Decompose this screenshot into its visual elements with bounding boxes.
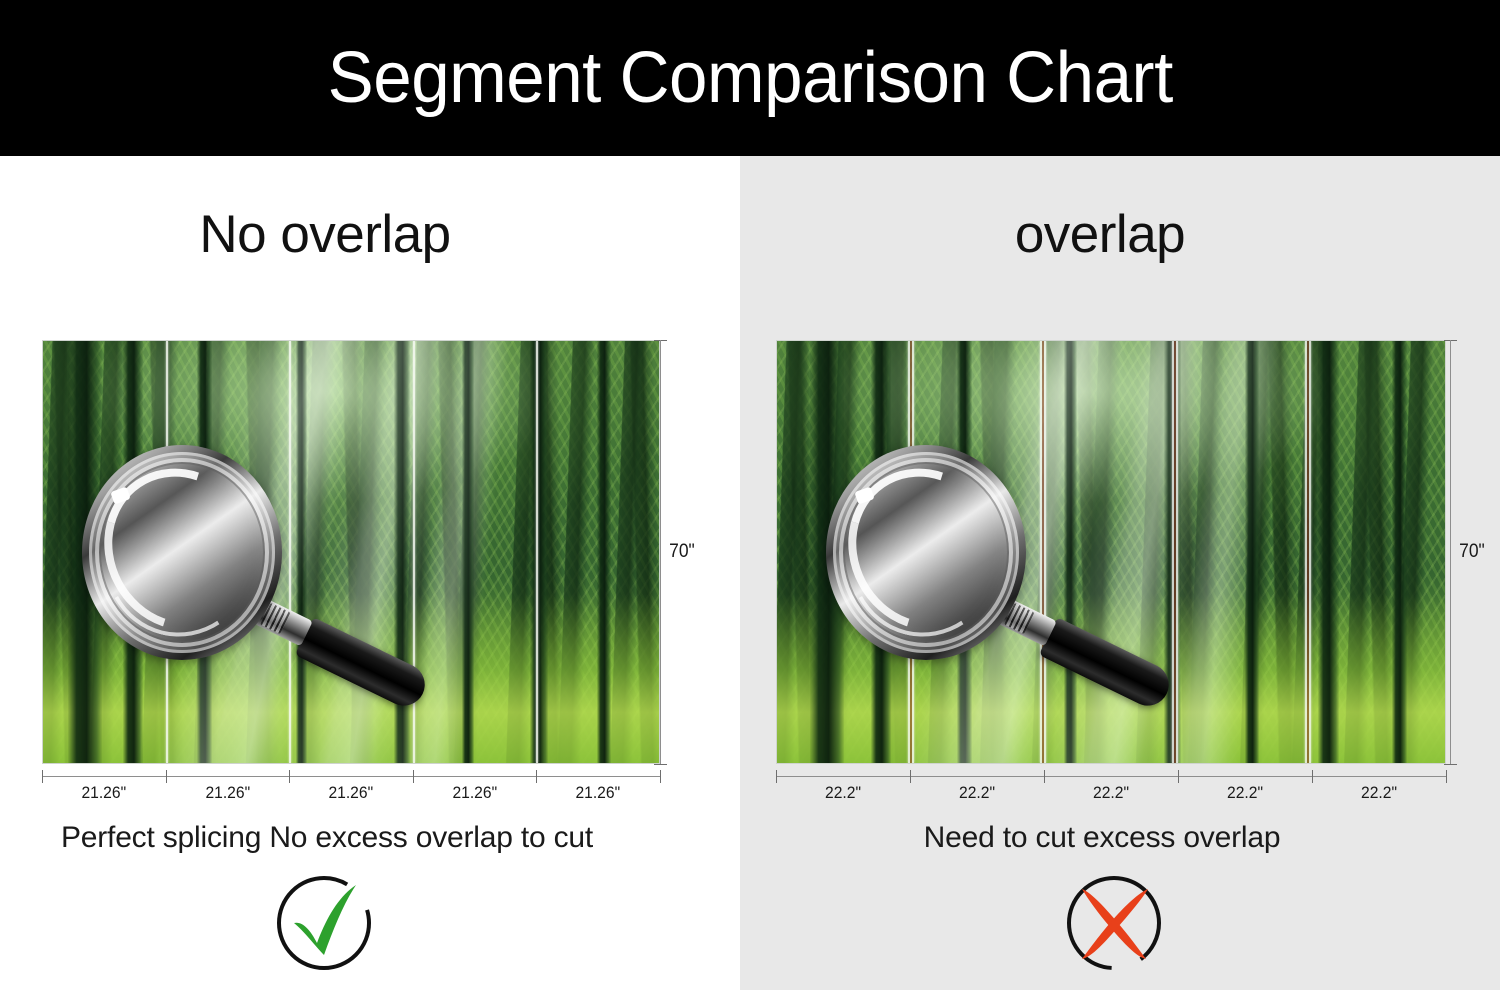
segment-label: 21.26" (418, 783, 532, 803)
tree-trunk (123, 340, 143, 764)
tree-trunk (597, 340, 611, 764)
comparison-chart-page: Segment Comparison Chart No overlap (0, 0, 1500, 990)
width-dim-tick (413, 770, 414, 783)
segment-label: 21.26" (171, 783, 285, 803)
caption-overlap: Need to cut excess overlap (740, 821, 1500, 855)
panel-seam-overlap (1305, 341, 1311, 763)
forest-image-right (776, 340, 1446, 764)
tree-trunk (810, 340, 843, 764)
width-dim-tick (166, 770, 167, 783)
segment-label: 22.2" (1049, 783, 1172, 803)
height-label-left: 70" (669, 541, 695, 563)
width-dim-tick (910, 770, 911, 783)
panel-no-overlap: No overlap (0, 156, 740, 990)
width-dim-tick (776, 770, 777, 783)
height-dim-cap-bottom-right (1444, 764, 1457, 765)
tree-trunk (394, 340, 410, 764)
tree-trunk (1064, 340, 1077, 764)
segment-label: 22.2" (1317, 783, 1440, 803)
title-bar: Segment Comparison Chart (0, 0, 1500, 156)
caption-no-overlap: Perfect splicing No excess overlap to cu… (0, 821, 740, 855)
width-dim-tick (289, 770, 290, 783)
tree-trunk (296, 340, 307, 764)
segment-label: 22.2" (915, 783, 1038, 803)
segment-label: 22.2" (1183, 783, 1306, 803)
width-dim-tick (1446, 770, 1447, 783)
tree-trunk (871, 340, 891, 764)
tree-trunk (957, 340, 972, 764)
verdict-right (1062, 871, 1166, 975)
mural-no-overlap (42, 340, 660, 764)
segment-label: 21.26" (541, 783, 655, 803)
height-dim-line-left (660, 340, 661, 764)
panel-heading-overlap: overlap (740, 204, 1500, 265)
panel-seam (289, 341, 291, 763)
width-dim-tick (1044, 770, 1045, 783)
check-icon (272, 871, 376, 975)
panel-seam (413, 341, 415, 763)
segment-label: 21.26" (294, 783, 408, 803)
width-dim-tick (660, 770, 661, 783)
width-dim-tick (1312, 770, 1313, 783)
page-title: Segment Comparison Chart (327, 42, 1172, 114)
width-dim-tick (1178, 770, 1179, 783)
tree-trunk (1318, 340, 1339, 764)
panel-heading-no-overlap: No overlap (0, 204, 740, 265)
tree-trunk (462, 340, 474, 764)
tree-trunk (530, 340, 548, 764)
width-dim-tick (42, 770, 43, 783)
height-dim-cap-bottom-left (654, 764, 667, 765)
width-dim-line-right (776, 776, 1446, 777)
forest-image-left (42, 340, 660, 764)
panel-overlap: overlap (740, 156, 1500, 990)
tree-trunk (1392, 340, 1407, 764)
panel-seam-overlap (1172, 341, 1178, 763)
verdict-left (272, 871, 376, 975)
panel-seam-overlap (908, 341, 914, 763)
mural-overlap (776, 340, 1446, 764)
cross-icon (1062, 871, 1166, 975)
tree-trunk (1245, 340, 1259, 764)
width-dim-line-left (42, 776, 660, 777)
segment-label: 21.26" (47, 783, 161, 803)
tree-trunk (197, 340, 212, 764)
panel-seam-overlap (1040, 341, 1046, 763)
panel-seam (536, 341, 538, 763)
segment-label: 22.2" (781, 783, 904, 803)
tree-trunk (68, 340, 102, 764)
height-label-right: 70" (1459, 541, 1485, 563)
panel-seam (166, 341, 168, 763)
height-dim-line-right (1450, 340, 1451, 764)
width-dim-tick (536, 770, 537, 783)
